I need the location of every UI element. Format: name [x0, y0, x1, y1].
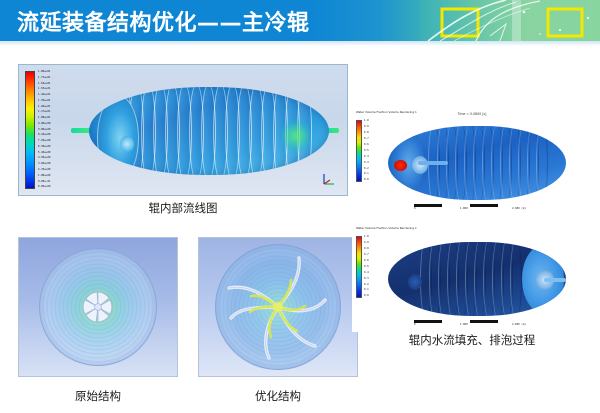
original-hub-spokes: [76, 285, 120, 329]
colorbar-tick: 0.0: [364, 295, 369, 298]
colorbar-tick: 1.0: [364, 120, 369, 123]
colorbar-tick: 0.4: [364, 272, 369, 275]
optimized-cross-section-disc: [215, 244, 341, 370]
colorbar-tick: 0.2: [364, 284, 369, 287]
colorbar-tick: 0.7: [364, 138, 369, 141]
colorbar-tick: 1.08e+01: [38, 117, 51, 120]
colorbar-tick: 0.2: [364, 168, 369, 171]
figure-vof-fill-stage-1: Time = 0.0800 [s] Water Volume Fraction …: [352, 108, 592, 216]
vof-bottom-scalebar: 0 1.000 2.000 (m): [414, 317, 526, 326]
vof-top-colorbar-title: Water Volume Fraction Volume Rendering 1: [356, 111, 417, 114]
optimized-spiral-vanes: [215, 244, 341, 370]
streamline-canvas: 1.80e+01 1.71e+01 1.62e+01 1.53e+01 1.44…: [19, 65, 347, 195]
colorbar-tick: 5.40e+00: [38, 152, 51, 155]
streamline-colorbar-labels: 1.80e+01 1.71e+01 1.62e+01 1.53e+01 1.44…: [38, 71, 51, 189]
colorbar-tick: 1.0: [364, 236, 369, 239]
streamline-hotspot: [281, 117, 311, 155]
caption-original-section: 原始结构: [18, 388, 178, 404]
figure-vof-fill-stage-2: Water Volume Fraction Volume Rendering 1…: [352, 224, 592, 332]
colorbar-tick: 1.35e+01: [38, 100, 51, 103]
colorbar-tick: 9.00e+00: [38, 129, 51, 132]
scalebar-tick: 1.000: [460, 207, 468, 210]
vof-top-colorbar: Water Volume Fraction Volume Rendering 1…: [356, 120, 369, 182]
colorbar-tick: 7.20e+00: [38, 140, 51, 143]
vof-top-hub: [412, 156, 428, 174]
vof-top-shaft: [418, 161, 448, 165]
colorbar-tick: 4.50e+00: [38, 157, 51, 160]
page-title: 流延装备结构优化——主冷辊: [17, 5, 310, 37]
vof-top-scalebar: 0 1.000 2.000 (m): [414, 201, 526, 210]
colorbar-tick: 0.9: [364, 126, 369, 129]
vof-bottom-colorbar-labels: 1.0 0.9 0.8 0.7 0.6 0.5 0.4 0.3 0.2 0.1 …: [364, 236, 369, 298]
colorbar-tick: 1.26e+01: [38, 106, 51, 109]
figure-original-section: [18, 237, 178, 377]
colorbar-tick: 0.00e+00: [38, 186, 51, 189]
streamline-roller-geometry: [71, 81, 339, 181]
colorbar-tick: 0.4: [364, 156, 369, 159]
vof-top-colorbar-gradient: [356, 120, 362, 182]
caption-optimized-section: 优化结构: [198, 388, 358, 404]
streamline-colorbar: 1.80e+01 1.71e+01 1.62e+01 1.53e+01 1.44…: [25, 71, 51, 189]
colorbar-tick: 1.17e+01: [38, 111, 51, 114]
colorbar-tick: 0.9: [364, 242, 369, 245]
colorbar-tick: 0.6: [364, 260, 369, 263]
vof-bottom-shaft: [544, 278, 566, 282]
scalebar-tick: 2.000 (m): [512, 207, 526, 210]
scalebar-tick: 2.000 (m): [512, 323, 526, 326]
vof-bottom-left-hub: [408, 274, 422, 290]
vof-top-scalebar-labels: 0 1.000 2.000 (m): [414, 207, 526, 210]
axis-triad-icon: [321, 171, 337, 187]
vof-bottom-colorbar: Water Volume Fraction Volume Rendering 1…: [356, 236, 369, 298]
colorbar-tick: 0.1: [364, 289, 369, 292]
colorbar-tick: 0.0: [364, 179, 369, 182]
scalebar-tick: 1.000: [460, 323, 468, 326]
colorbar-tick: 0.6: [364, 144, 369, 147]
figure-roller-streamline: 1.80e+01 1.71e+01 1.62e+01 1.53e+01 1.44…: [18, 64, 348, 196]
original-cross-section-disc: [39, 248, 157, 366]
slide-header: 流延装备结构优化——主冷辊: [0, 0, 600, 41]
colorbar-tick: 2.70e+00: [38, 169, 51, 172]
colorbar-tick: 0.8: [364, 132, 369, 135]
scalebar-tick: 0: [414, 207, 416, 210]
colorbar-tick: 6.30e+00: [38, 146, 51, 149]
vof-bottom-colorbar-title: Water Volume Fraction Volume Rendering 1: [356, 227, 417, 230]
vof-top-roller: [388, 126, 566, 200]
roller-body: [89, 87, 329, 175]
streamline-colorbar-gradient: [25, 71, 35, 189]
colorbar-tick: 9.90e+00: [38, 123, 51, 126]
colorbar-tick: 1.71e+01: [38, 77, 51, 80]
caption-streamline: 辊内部流线图: [18, 200, 348, 216]
header-underline: [0, 41, 600, 46]
roller-hub: [120, 136, 134, 152]
vof-top-inlet-marker: [394, 160, 407, 171]
colorbar-tick: 1.62e+01: [38, 83, 51, 86]
vof-bottom-scalebar-labels: 0 1.000 2.000 (m): [414, 323, 526, 326]
colorbar-tick: 0.3: [364, 162, 369, 165]
colorbar-tick: 0.8: [364, 248, 369, 251]
header-decoration-graphic: [420, 0, 600, 41]
roller-end-cap: [97, 95, 139, 175]
colorbar-tick: 0.5: [364, 150, 369, 153]
colorbar-tick: 1.53e+01: [38, 88, 51, 91]
vof-bottom-roller: [388, 242, 566, 316]
colorbar-tick: 3.60e+00: [38, 163, 51, 166]
colorbar-tick: 0.3: [364, 278, 369, 281]
colorbar-tick: 1.44e+01: [38, 94, 51, 97]
colorbar-tick: 9.00e-01: [38, 181, 51, 184]
colorbar-tick: 8.10e+00: [38, 134, 51, 137]
vof-top-colorbar-labels: 1.0 0.9 0.8 0.7 0.6 0.5 0.4 0.3 0.2 0.1 …: [364, 120, 369, 182]
colorbar-tick: 1.80e+00: [38, 175, 51, 178]
caption-vof: 辊内水流填充、排泡过程: [352, 332, 592, 348]
figure-optimized-section: [198, 237, 358, 377]
colorbar-tick: 0.5: [364, 266, 369, 269]
scalebar-tick: 0: [414, 323, 416, 326]
colorbar-tick: 0.7: [364, 254, 369, 257]
vof-bottom-colorbar-gradient: [356, 236, 362, 298]
colorbar-tick: 0.1: [364, 173, 369, 176]
colorbar-tick: 1.80e+01: [38, 71, 51, 74]
